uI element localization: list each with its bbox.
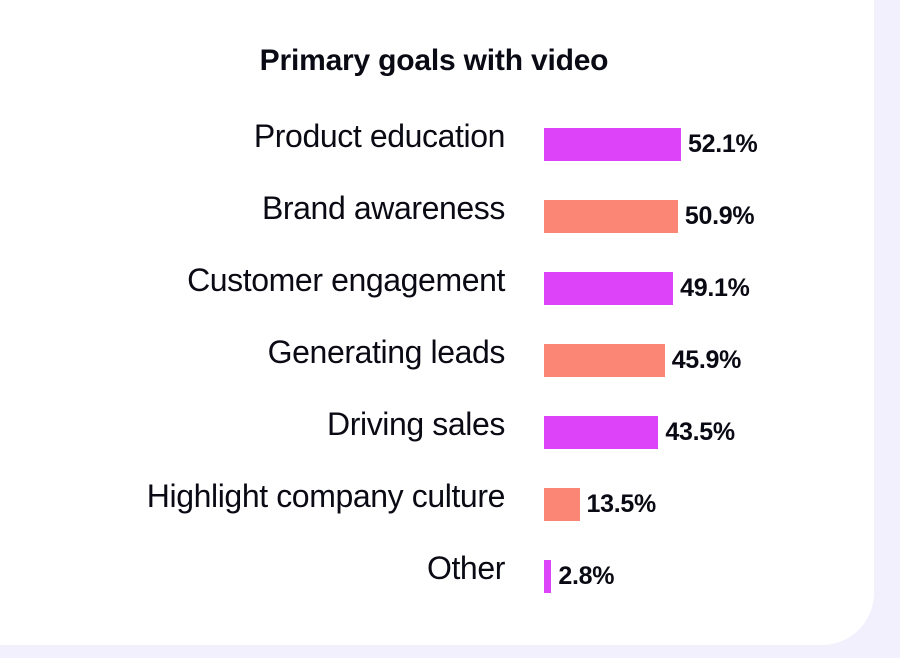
bar-row: Brand awareness50.9% <box>0 184 868 256</box>
bar-category-label: Generating leads <box>268 328 505 376</box>
bar-fill <box>544 560 551 593</box>
bar-row: Generating leads45.9% <box>0 328 868 400</box>
bar-fill <box>544 272 673 305</box>
chart-title: Primary goals with video <box>0 44 868 78</box>
bar-fill <box>544 344 665 377</box>
bar-track: 45.9% <box>544 344 741 377</box>
bar-track: 49.1% <box>544 272 750 305</box>
bar-value-label: 52.1% <box>688 132 757 157</box>
bar-track: 52.1% <box>544 128 757 161</box>
bar-fill <box>544 200 678 233</box>
bar-value-label: 49.1% <box>680 276 749 301</box>
bar-category-label: Driving sales <box>327 400 505 448</box>
bar-row: Highlight company culture13.5% <box>0 472 868 544</box>
chart-screenshot: Primary goals with video Product educati… <box>0 0 900 658</box>
bar-value-label: 45.9% <box>672 348 741 373</box>
bar-row: Customer engagement49.1% <box>0 256 868 328</box>
bar-category-label: Customer engagement <box>187 256 505 304</box>
bar-row: Driving sales43.5% <box>0 400 868 472</box>
bar-fill <box>544 416 658 449</box>
bar-category-label: Highlight company culture <box>147 472 505 520</box>
bar-category-label: Product education <box>254 112 505 160</box>
bar-value-label: 2.8% <box>558 564 614 589</box>
bar-fill <box>544 488 580 521</box>
bar-value-label: 50.9% <box>685 204 754 229</box>
bar-value-label: 13.5% <box>587 492 656 517</box>
bar-category-label: Other <box>427 544 505 592</box>
bar-row: Product education52.1% <box>0 112 868 184</box>
bar-track: 13.5% <box>544 488 656 521</box>
bar-chart-rows: Product education52.1%Brand awareness50.… <box>0 112 868 616</box>
bar-category-label: Brand awareness <box>262 184 505 232</box>
bar-value-label: 43.5% <box>665 420 734 445</box>
bar-row: Other2.8% <box>0 544 868 616</box>
bar-track: 43.5% <box>544 416 735 449</box>
bar-fill <box>544 128 681 161</box>
bar-track: 50.9% <box>544 200 754 233</box>
bar-track: 2.8% <box>544 560 614 593</box>
